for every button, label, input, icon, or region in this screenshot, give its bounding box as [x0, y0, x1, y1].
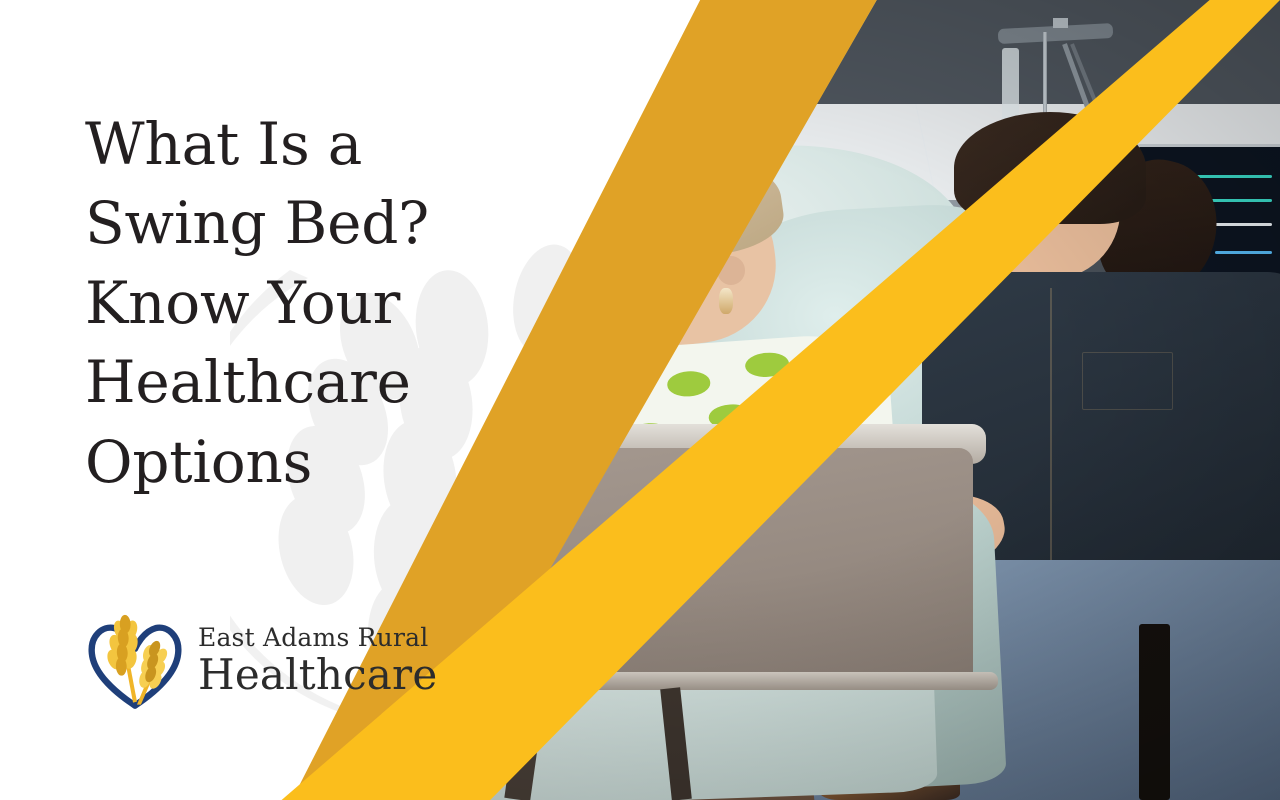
- hero-banner: What Is a Swing Bed? Know Your Healthcar…: [0, 0, 1280, 800]
- page-title: What Is a Swing Bed? Know Your Healthcar…: [85, 105, 515, 502]
- wheat-heart-logo-icon: [86, 608, 184, 712]
- brand-logo[interactable]: East Adams Rural Healthcare: [86, 608, 437, 712]
- headline-line-2: Swing Bed?: [85, 189, 429, 257]
- headline-line-5: Options: [85, 428, 312, 496]
- headline-line-3: Know Your: [85, 269, 400, 337]
- logo-line-1: East Adams Rural: [198, 625, 437, 650]
- headline-line-4: Healthcare: [85, 348, 411, 416]
- logo-wordmark: East Adams Rural Healthcare: [198, 625, 437, 696]
- headline-line-1: What Is a: [85, 110, 362, 178]
- logo-line-2: Healthcare: [198, 654, 437, 696]
